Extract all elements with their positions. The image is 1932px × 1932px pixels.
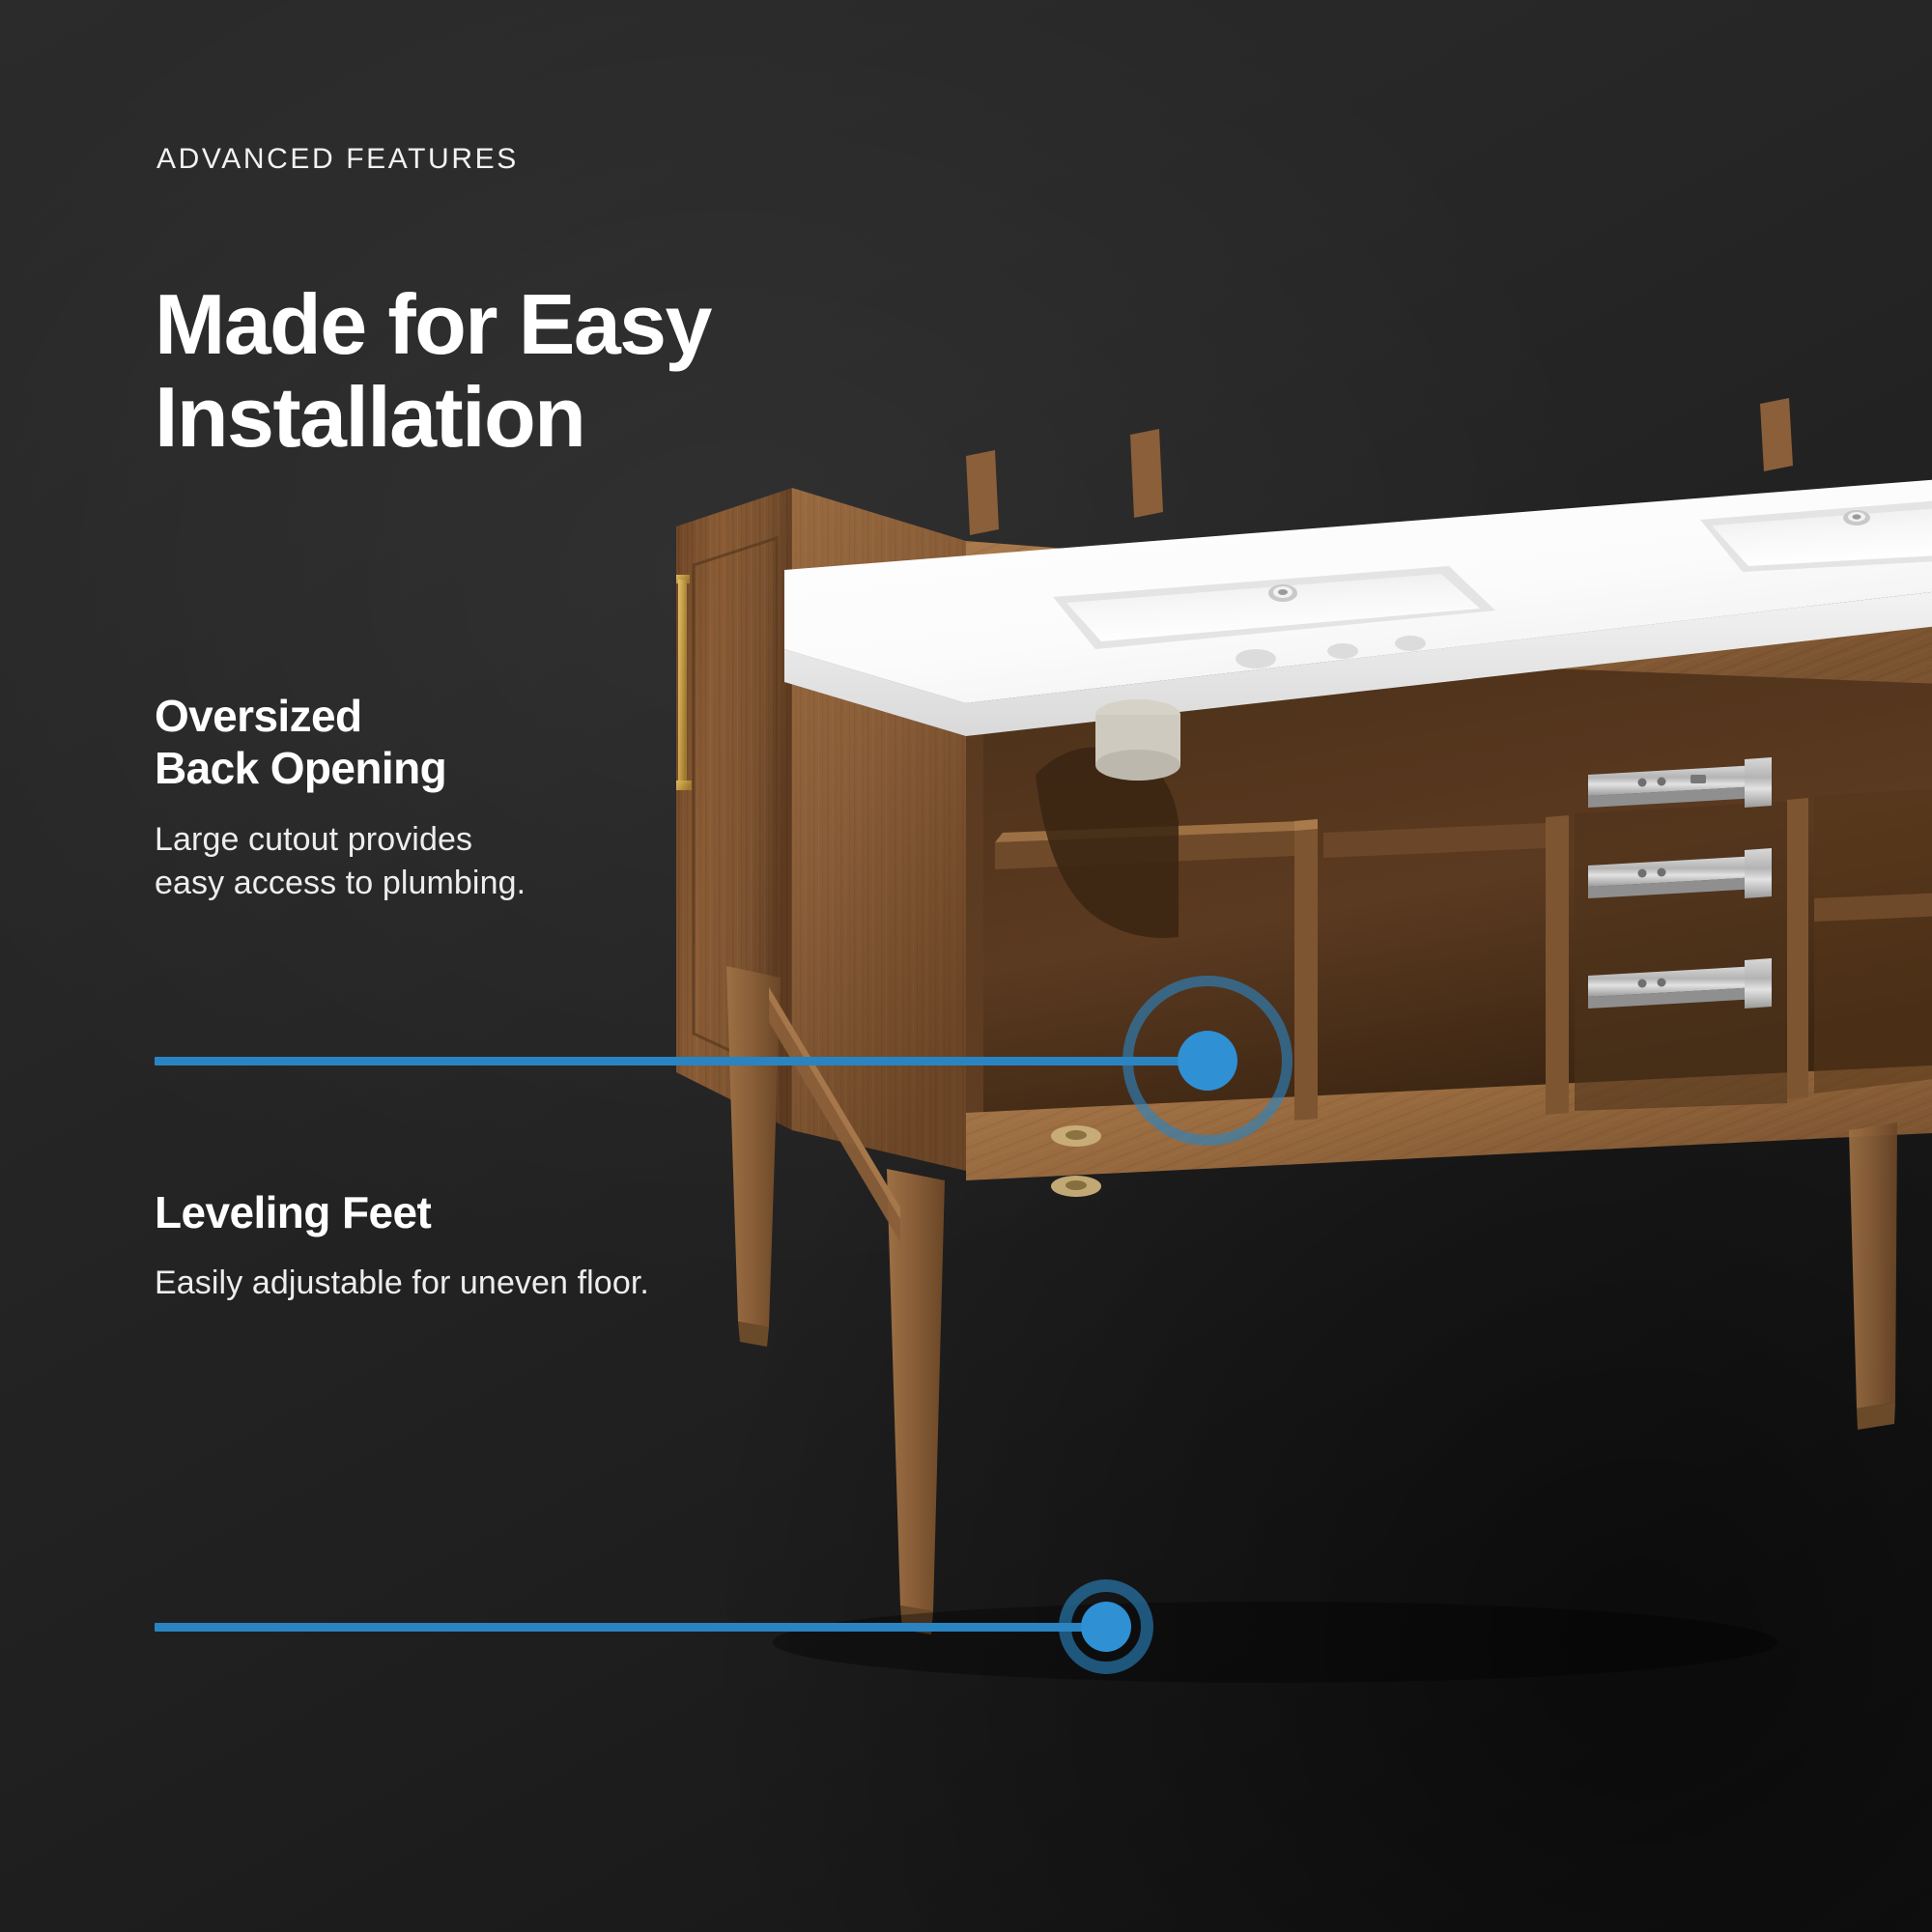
plumbing-drain-stub [1095, 699, 1180, 781]
feature-block-back-opening: Oversized Back Opening Large cutout prov… [155, 690, 850, 906]
feature-description-back-opening: Large cutout provides easy access to plu… [155, 818, 850, 906]
feature-title-leveling-feet: Leveling Feet [155, 1186, 850, 1238]
feature-desc-line-1: Easily adjustable for uneven floor. [155, 1262, 850, 1306]
callout-connector-leveling-feet [155, 1623, 1106, 1632]
headline-line-2: Installation [155, 371, 889, 464]
callout-marker-leveling-feet [1009, 1530, 1203, 1723]
feature-description-leveling-feet: Easily adjustable for uneven floor. [155, 1262, 850, 1306]
eyebrow-label: ADVANCED FEATURES [156, 143, 519, 176]
headline-line-1: Made for Easy [155, 278, 889, 371]
feature-title-line-1: Leveling Feet [155, 1186, 850, 1238]
callout-connector-back-opening [155, 1057, 1207, 1065]
feature-desc-line-1: Large cutout provides [155, 818, 850, 863]
feature-desc-line-2: easy access to plumbing. [155, 862, 850, 906]
feature-title-line-1: Oversized [155, 690, 850, 742]
feature-title-line-2: Back Opening [155, 742, 850, 794]
page-title: Made for Easy Installation [155, 278, 889, 464]
feature-block-leveling-feet: Leveling Feet Easily adjustable for unev… [155, 1186, 850, 1306]
callout-dot-icon [1081, 1602, 1131, 1652]
callout-dot-icon [1178, 1031, 1237, 1091]
infographic-canvas: ADVANCED FEATURES Made for Easy Installa… [0, 0, 1932, 1932]
callout-marker-back-opening [1063, 916, 1352, 1206]
feature-title-back-opening: Oversized Back Opening [155, 690, 850, 795]
